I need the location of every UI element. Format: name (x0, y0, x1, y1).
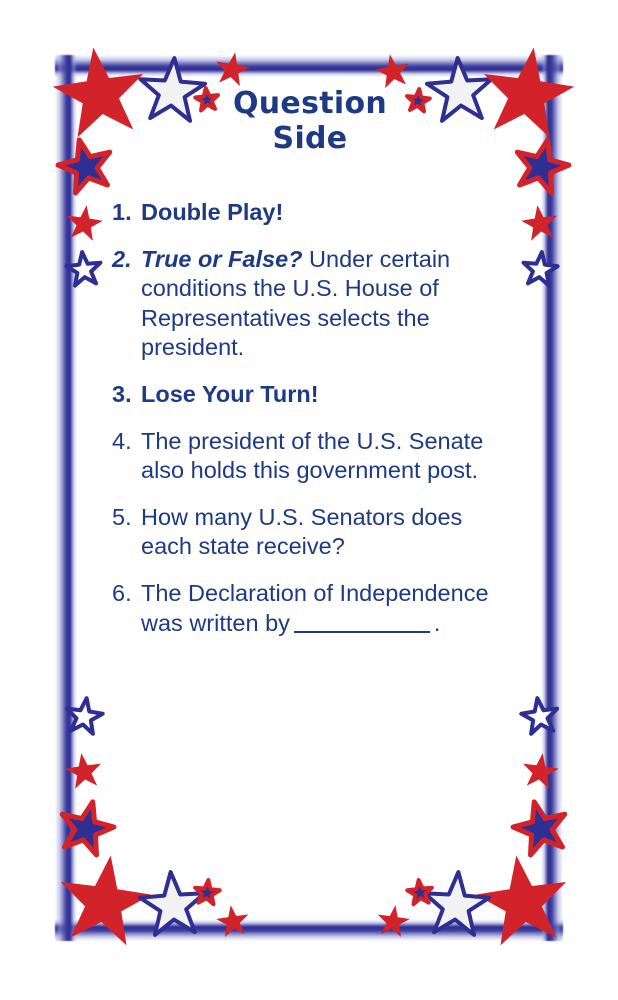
question-item: 4.The president of the U.S. Senate also … (112, 427, 512, 486)
question-text: Double Play! (141, 198, 512, 228)
page-title-line-2: Side (160, 121, 460, 156)
question-item: 1.Double Play! (112, 198, 512, 228)
question-emphasis: True or False? (141, 246, 303, 272)
question-number: 5. (112, 503, 141, 533)
question-text: Lose Your Turn! (141, 380, 512, 410)
question-body: How many U.S. Senators does each state r… (141, 504, 462, 560)
question-item: 6.The Declaration of Independence was wr… (112, 579, 512, 638)
question-body: Double Play! (141, 199, 283, 225)
question-item: 3.Lose Your Turn! (112, 380, 512, 410)
page-title-line-1: Question (160, 86, 460, 121)
question-list: 1.Double Play!2.True or False? Under cer… (112, 198, 512, 638)
question-number: 2. (112, 245, 141, 275)
question-text: How many U.S. Senators does each state r… (141, 503, 512, 562)
card-content: Question Side 1.Double Play!2.True or Fa… (0, 0, 618, 1000)
question-item: 2.True or False? Under certain condition… (112, 245, 512, 363)
question-blank-suffix: . (434, 610, 441, 636)
question-text: True or False? Under certain conditions … (141, 245, 512, 363)
question-number: 3. (112, 380, 141, 410)
question-number: 4. (112, 427, 141, 457)
question-item: 5.How many U.S. Senators does each state… (112, 503, 512, 562)
question-text: The president of the U.S. Senate also ho… (141, 427, 512, 486)
question-number: 6. (112, 579, 141, 609)
question-card: Question Side 1.Double Play!2.True or Fa… (0, 0, 618, 1000)
question-body: The president of the U.S. Senate also ho… (141, 428, 483, 484)
question-body: Lose Your Turn! (141, 381, 319, 407)
question-text: The Declaration of Independence was writ… (141, 579, 512, 638)
page-title: Question Side (160, 86, 460, 157)
question-number: 1. (112, 198, 141, 228)
fill-in-blank[interactable] (294, 631, 430, 633)
